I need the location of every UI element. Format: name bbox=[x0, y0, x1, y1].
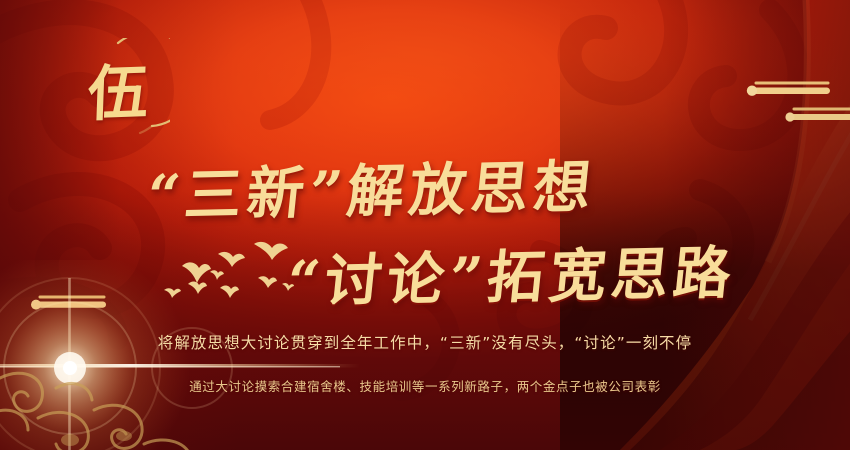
flying-birds-icon bbox=[158, 240, 298, 308]
badge-character: 伍 bbox=[64, 36, 172, 144]
gold-cloud-bar-icon bbox=[24, 292, 112, 310]
gold-ornament bbox=[0, 348, 224, 450]
headline-line-2: “讨论”拓宽思路 bbox=[283, 227, 740, 318]
subtitle-line-1: 将解放思想大讨论贯穿到全年工作中，“三新”没有尽头，“讨论”一刻不停 bbox=[0, 331, 850, 353]
section-number-badge: 伍 bbox=[66, 38, 170, 142]
subtitle-line-2: 通过大讨论摸索合建宿舍楼、技能培训等一系列新路子，两个金点子也被公司表彰 bbox=[0, 376, 850, 395]
gold-cloud-bar-icon bbox=[782, 104, 850, 122]
gold-cloud-bar-icon bbox=[742, 78, 838, 96]
headline-line-1: “三新”解放思想 bbox=[143, 141, 600, 232]
poster-canvas: 伍 “三新”解放思想 “讨论”拓宽思路 将解放思想大讨论贯穿到全年工作中，“三新… bbox=[0, 0, 850, 450]
